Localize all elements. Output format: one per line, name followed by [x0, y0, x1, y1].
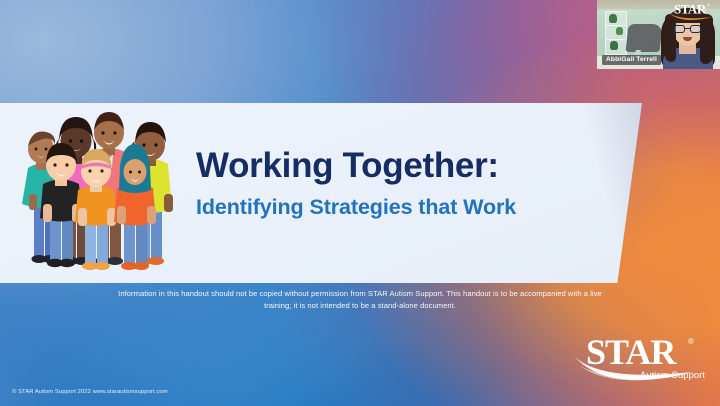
svg-text:STAR: STAR [674, 2, 707, 17]
star-watermark-logo: STAR ® [666, 1, 716, 20]
slide-title: Working Together: [196, 148, 596, 185]
shelf-decor [605, 11, 627, 55]
svg-text:®: ® [688, 337, 694, 346]
participant-name-label: AbbiGail Terrell [602, 55, 661, 65]
svg-text:®: ® [707, 3, 710, 8]
svg-text:STAR: STAR [586, 332, 677, 372]
svg-text:Autism Support: Autism Support [640, 370, 705, 381]
slide-subtitle: Identifying Strategies that Work [196, 196, 596, 220]
slide-title-block: Working Together: Identifying Strategies… [196, 148, 596, 219]
handout-disclaimer-text: Information in this handout should not b… [108, 288, 612, 312]
group-of-diverse-people-illustration [12, 108, 184, 280]
copyright-text: © STAR Autism Support 2022 www.starautis… [12, 389, 168, 395]
star-autism-support-logo: STAR ® Autism Support [570, 326, 706, 382]
glasses-icon [673, 25, 703, 33]
presentation-screen: Working Together: Identifying Strategies… [0, 0, 720, 406]
